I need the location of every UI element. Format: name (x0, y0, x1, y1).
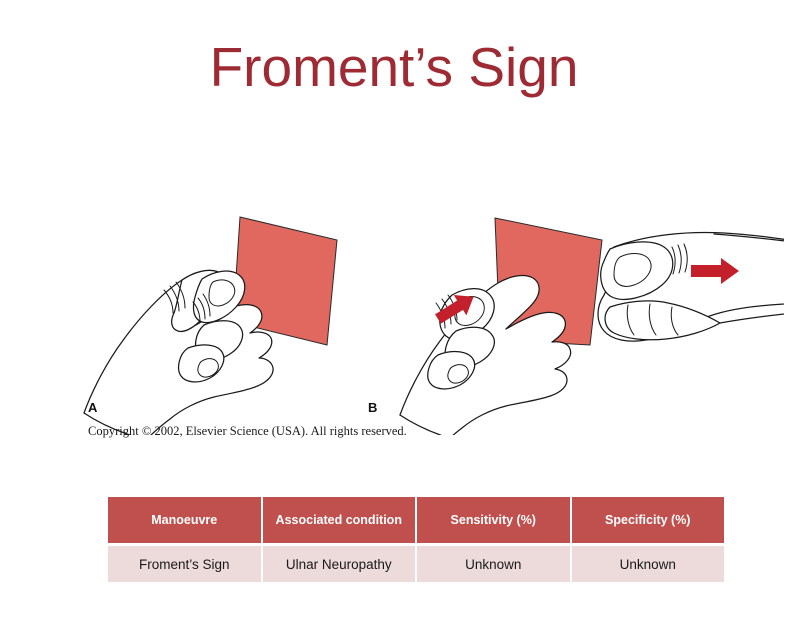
copyright-notice: Copyright © 2002, Elsevier Science (USA)… (88, 424, 407, 439)
illustration-figure: .ln { fill:none; stroke:#1a1a1a; stroke-… (78, 185, 784, 435)
page-title: Froment’s Sign (0, 36, 788, 98)
panel-a-group (84, 217, 337, 435)
table-header-row: Manoeuvre Associated condition Sensitivi… (108, 497, 724, 543)
froment-sign-illustration: .ln { fill:none; stroke:#1a1a1a; stroke-… (78, 185, 784, 435)
manoeuvre-table: Manoeuvre Associated condition Sensitivi… (106, 494, 726, 585)
column-header-associated-condition: Associated condition (263, 497, 416, 543)
cell-associated-condition: Ulnar Neuropathy (263, 546, 416, 582)
column-header-sensitivity: Sensitivity (%) (417, 497, 570, 543)
slide-canvas: Froment’s Sign .ln { fill:none; stroke:#… (0, 0, 788, 623)
column-header-manoeuvre: Manoeuvre (108, 497, 261, 543)
manoeuvre-table-wrap: Manoeuvre Associated condition Sensitivi… (108, 497, 728, 582)
cell-specificity: Unknown (572, 546, 725, 582)
cell-sensitivity: Unknown (417, 546, 570, 582)
table-row: Froment’s Sign Ulnar Neuropathy Unknown … (108, 546, 724, 582)
panel-a-label: A (88, 400, 97, 415)
panel-b-label: B (368, 400, 377, 415)
column-header-specificity: Specificity (%) (572, 497, 725, 543)
cell-manoeuvre: Froment’s Sign (108, 546, 261, 582)
panel-b-group (400, 218, 784, 435)
